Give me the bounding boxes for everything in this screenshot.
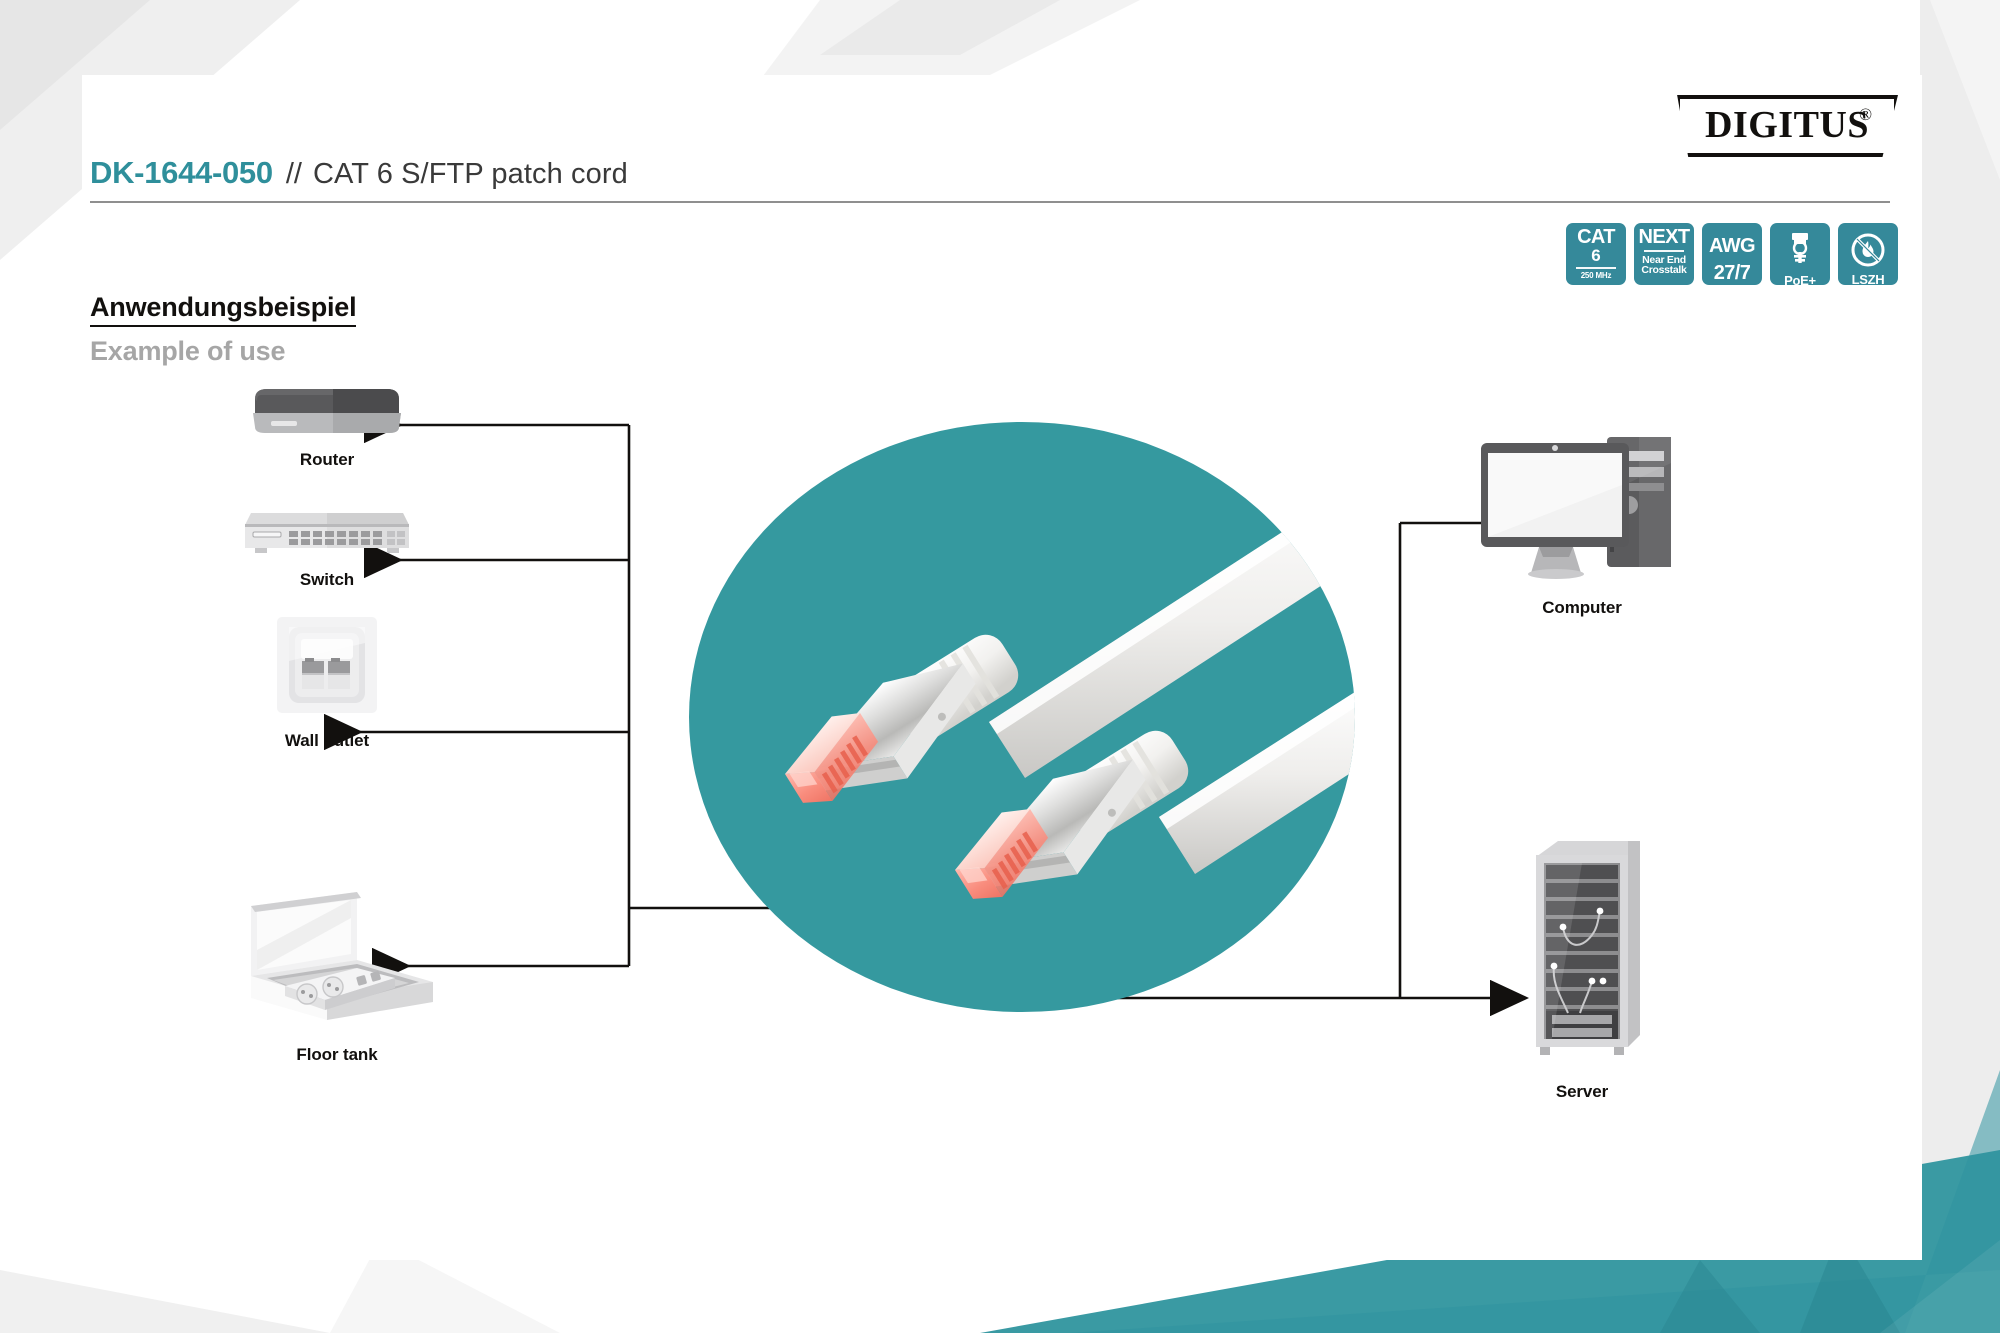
node-computer: Computer — [1422, 433, 1742, 618]
node-switch: Switch — [177, 503, 477, 590]
node-server-label: Server — [1422, 1082, 1742, 1102]
node-floor-tank: Floor tank — [177, 890, 497, 1065]
wall-outlet-icon — [177, 613, 477, 722]
page-canvas: DIGITUS ® DK-1644-050//CAT 6 S/FTP patch… — [0, 0, 2000, 1333]
node-router: Router — [177, 385, 477, 470]
node-wall-outlet: Wall outlet — [177, 613, 477, 751]
node-switch-label: Switch — [177, 570, 477, 590]
node-wall-outlet-label: Wall outlet — [177, 731, 477, 751]
cat6-patch-cord-illustration — [689, 422, 1355, 1012]
switch-icon — [177, 503, 477, 564]
node-router-label: Router — [177, 450, 477, 470]
server-rack-icon — [1422, 835, 1742, 1072]
node-server: Server — [1422, 835, 1742, 1102]
hero-product-circle — [689, 422, 1355, 1012]
content-card: DIGITUS ® DK-1644-050//CAT 6 S/FTP patch… — [82, 75, 1922, 1260]
router-icon — [177, 385, 477, 444]
desktop-computer-icon — [1422, 433, 1742, 588]
application-diagram: Router — [82, 75, 1922, 1260]
node-floor-tank-label: Floor tank — [177, 1045, 497, 1065]
node-computer-label: Computer — [1422, 598, 1742, 618]
floor-tank-icon — [177, 890, 497, 1035]
